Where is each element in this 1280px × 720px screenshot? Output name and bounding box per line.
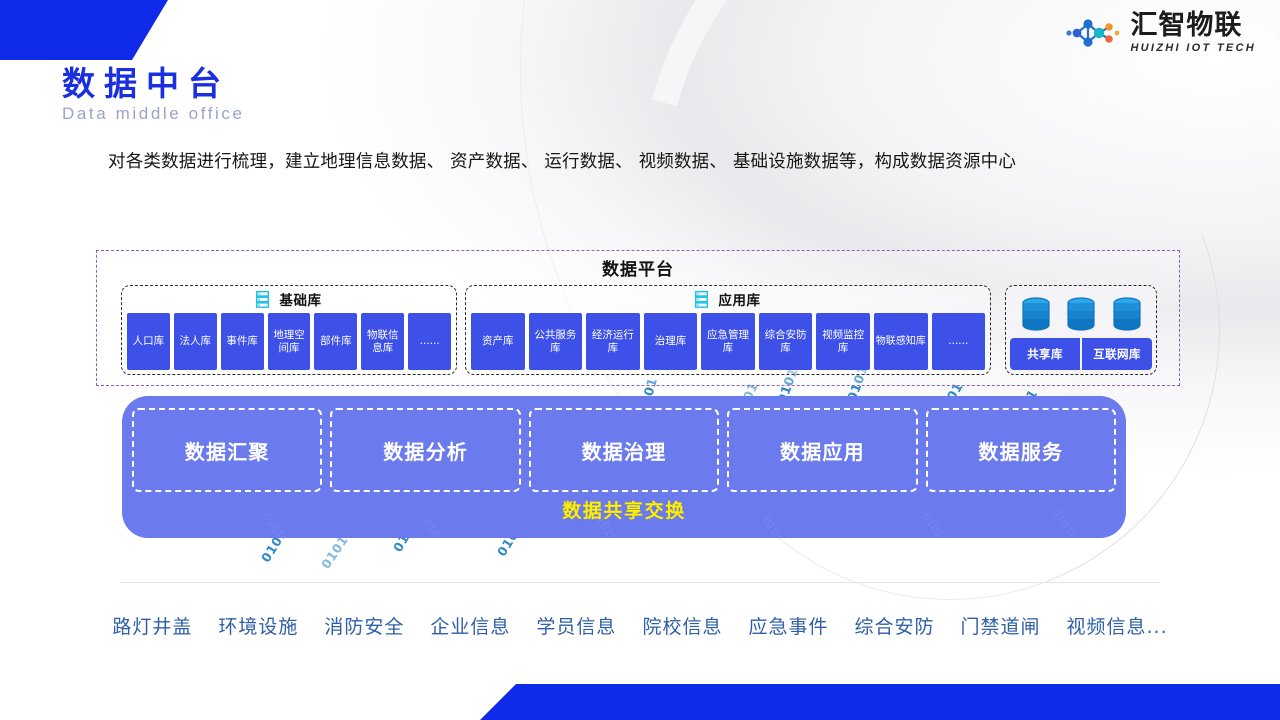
page-subtitle: Data middle office — [62, 104, 245, 124]
library-chip[interactable]: 治理库 — [644, 313, 698, 370]
library-title-application: 应用库 — [718, 289, 760, 309]
library-group-basic: 基础库 人口库 法人库 事件库 地理空间库 部件库 物联信息库 ...... — [121, 285, 457, 375]
bottom-tag-list: 路灯井盖 环境设施 消防安全 企业信息 学员信息 院校信息 应急事件 综合安防 … — [0, 612, 1280, 639]
database-label-row: 共享库 互联网库 — [1010, 338, 1152, 370]
database-cylinder-icon — [1065, 297, 1097, 331]
molecule-network-icon — [1064, 13, 1122, 53]
tag-item[interactable]: 环境设施 — [218, 612, 298, 639]
library-chip[interactable]: 人口库 — [127, 313, 170, 370]
library-chip[interactable]: 事件库 — [221, 313, 264, 370]
capability-box-row: 数据汇聚 数据分析 数据治理 数据应用 数据服务 — [132, 408, 1116, 492]
tag-divider — [120, 582, 1160, 583]
platform-title: 数据平台 — [97, 255, 1179, 280]
capability-box[interactable]: 数据应用 — [727, 408, 917, 492]
tag-item[interactable]: 综合安防 — [854, 612, 934, 639]
brand-name-cn: 汇智物联 — [1130, 12, 1242, 39]
capability-panel: 01010101010 0101010101 010101010101 0101… — [122, 396, 1126, 538]
capability-box[interactable]: 数据治理 — [529, 408, 719, 492]
library-chip[interactable]: 物联感知库 — [874, 313, 928, 370]
server-rack-icon — [695, 291, 708, 308]
tag-item[interactable]: 学员信息 — [536, 612, 616, 639]
intro-paragraph: 对各类数据进行梳理，建立地理信息数据、 资产数据、 运行数据、 视频数据、 基础… — [108, 140, 1180, 184]
library-chip[interactable]: 综合安防库 — [759, 313, 813, 370]
library-chip[interactable]: 经济运行库 — [586, 313, 640, 370]
tag-item[interactable]: 企业信息 — [430, 612, 510, 639]
brand-logo: 汇智物联 HUIZHI IOT TECH — [1064, 12, 1256, 54]
shared-database-box: 共享库 互联网库 — [1005, 285, 1157, 375]
page-title: 数据中台 — [62, 66, 245, 102]
library-chip[interactable]: 部件库 — [314, 313, 357, 370]
tag-item[interactable]: 应急事件 — [748, 612, 828, 639]
library-chip[interactable]: ...... — [408, 313, 451, 370]
library-chip[interactable]: 资产库 — [471, 313, 525, 370]
page-title-block: 数据中台 Data middle office — [62, 66, 245, 124]
capability-footer-label: 数据共享交换 — [122, 496, 1126, 523]
brand-name-en: HUIZHI IOT TECH — [1130, 43, 1256, 54]
database-label-internet[interactable]: 互联网库 — [1082, 338, 1152, 370]
library-chip[interactable]: 公共服务库 — [529, 313, 583, 370]
bottom-right-ribbon — [480, 684, 1280, 720]
database-icon-row — [1006, 292, 1156, 336]
server-rack-icon — [256, 291, 269, 308]
library-chip-list-application: 资产库 公共服务库 经济运行库 治理库 应急管理库 综合安防库 视频监控库 物联… — [471, 313, 985, 370]
library-chip[interactable]: 视频监控库 — [816, 313, 870, 370]
library-chip[interactable]: ...... — [932, 313, 986, 370]
database-cylinder-icon — [1111, 297, 1143, 331]
library-chip[interactable]: 应急管理库 — [701, 313, 755, 370]
database-cylinder-icon — [1020, 297, 1052, 331]
library-chip-list-basic: 人口库 法人库 事件库 地理空间库 部件库 物联信息库 ...... — [127, 313, 451, 370]
capability-box[interactable]: 数据服务 — [926, 408, 1116, 492]
library-chip[interactable]: 物联信息库 — [361, 313, 404, 370]
tag-item[interactable]: 门禁道闸 — [960, 612, 1040, 639]
data-platform-container: 数据平台 基础库 人口库 法人库 事件库 地理空间库 部件库 物联信息库 ...… — [96, 250, 1180, 386]
library-header-basic: 基础库 — [122, 290, 456, 308]
library-title-basic: 基础库 — [279, 289, 321, 309]
library-chip[interactable]: 法人库 — [174, 313, 217, 370]
tag-item[interactable]: 路灯井盖 — [112, 612, 192, 639]
tag-item[interactable]: 院校信息 — [642, 612, 722, 639]
tag-item[interactable]: 消防安全 — [324, 612, 404, 639]
library-chip[interactable]: 地理空间库 — [268, 313, 311, 370]
tag-item[interactable]: 视频信息... — [1067, 612, 1168, 639]
capability-box[interactable]: 数据汇聚 — [132, 408, 322, 492]
library-header-application: 应用库 — [466, 290, 990, 308]
library-group-application: 应用库 资产库 公共服务库 经济运行库 治理库 应急管理库 综合安防库 视频监控… — [465, 285, 991, 375]
database-label-shared[interactable]: 共享库 — [1010, 338, 1080, 370]
capability-box[interactable]: 数据分析 — [330, 408, 520, 492]
